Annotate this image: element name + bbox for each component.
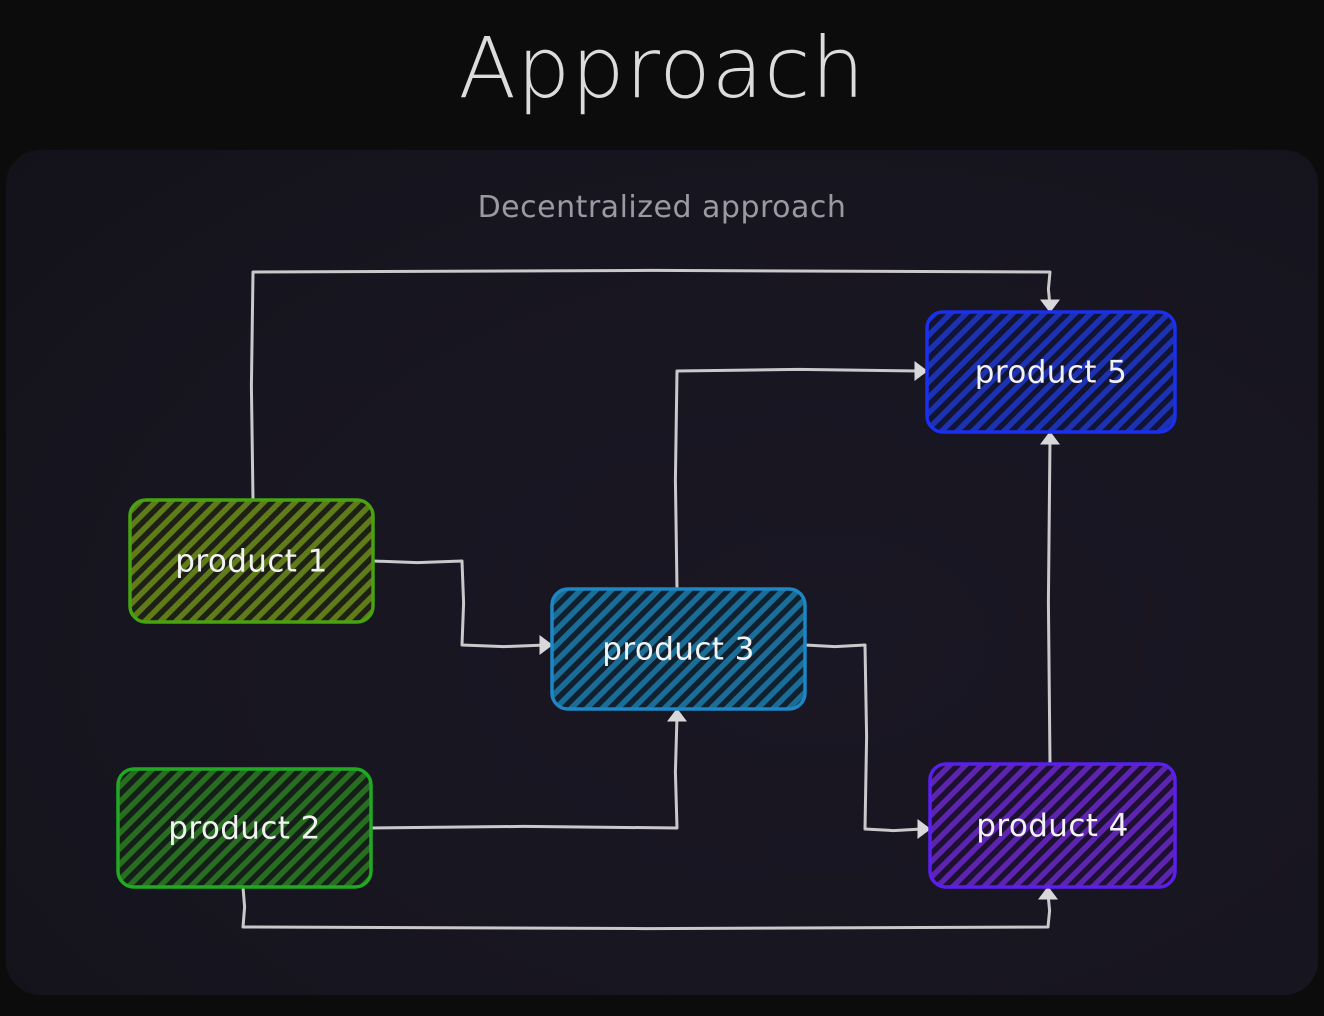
node-label: product 3 <box>602 632 754 668</box>
edge-path <box>805 645 922 831</box>
edge-path <box>371 716 677 828</box>
arrow-head-icon <box>540 636 552 654</box>
node-product1[interactable]: product 1 <box>130 500 373 622</box>
arrow-head-icon <box>915 362 927 380</box>
node-label: product 2 <box>168 811 320 847</box>
edge-product2-to-product4 <box>243 887 1057 929</box>
arrow-head-icon <box>918 820 930 838</box>
edge-product4-to-product5 <box>1041 432 1059 764</box>
edge-product2-to-product3 <box>371 709 686 828</box>
edge-path <box>1048 439 1050 764</box>
slide-canvas: Approach Decentralized approach product … <box>0 0 1324 1016</box>
edge-path <box>675 369 919 589</box>
node-label: product 1 <box>175 544 327 580</box>
nodes-layer: product 1product 2product 3product 4prod… <box>118 312 1175 887</box>
edge-product3-to-product4 <box>805 645 930 838</box>
node-product2[interactable]: product 2 <box>118 769 371 887</box>
arrow-head-icon <box>1041 300 1059 312</box>
edge-path <box>373 561 546 647</box>
edge-path <box>243 887 1050 929</box>
flow-diagram: product 1product 2product 3product 4prod… <box>0 0 1324 1016</box>
node-label: product 5 <box>975 355 1127 391</box>
edge-product1-to-product3 <box>373 561 552 654</box>
arrow-head-icon <box>668 709 686 721</box>
node-label: product 4 <box>976 808 1128 844</box>
node-product4[interactable]: product 4 <box>930 764 1175 887</box>
arrow-head-icon <box>1041 432 1059 444</box>
node-product3[interactable]: product 3 <box>552 589 805 709</box>
arrow-head-icon <box>1039 887 1057 899</box>
node-product5[interactable]: product 5 <box>927 312 1175 432</box>
edge-product3-to-product5 <box>675 362 927 589</box>
